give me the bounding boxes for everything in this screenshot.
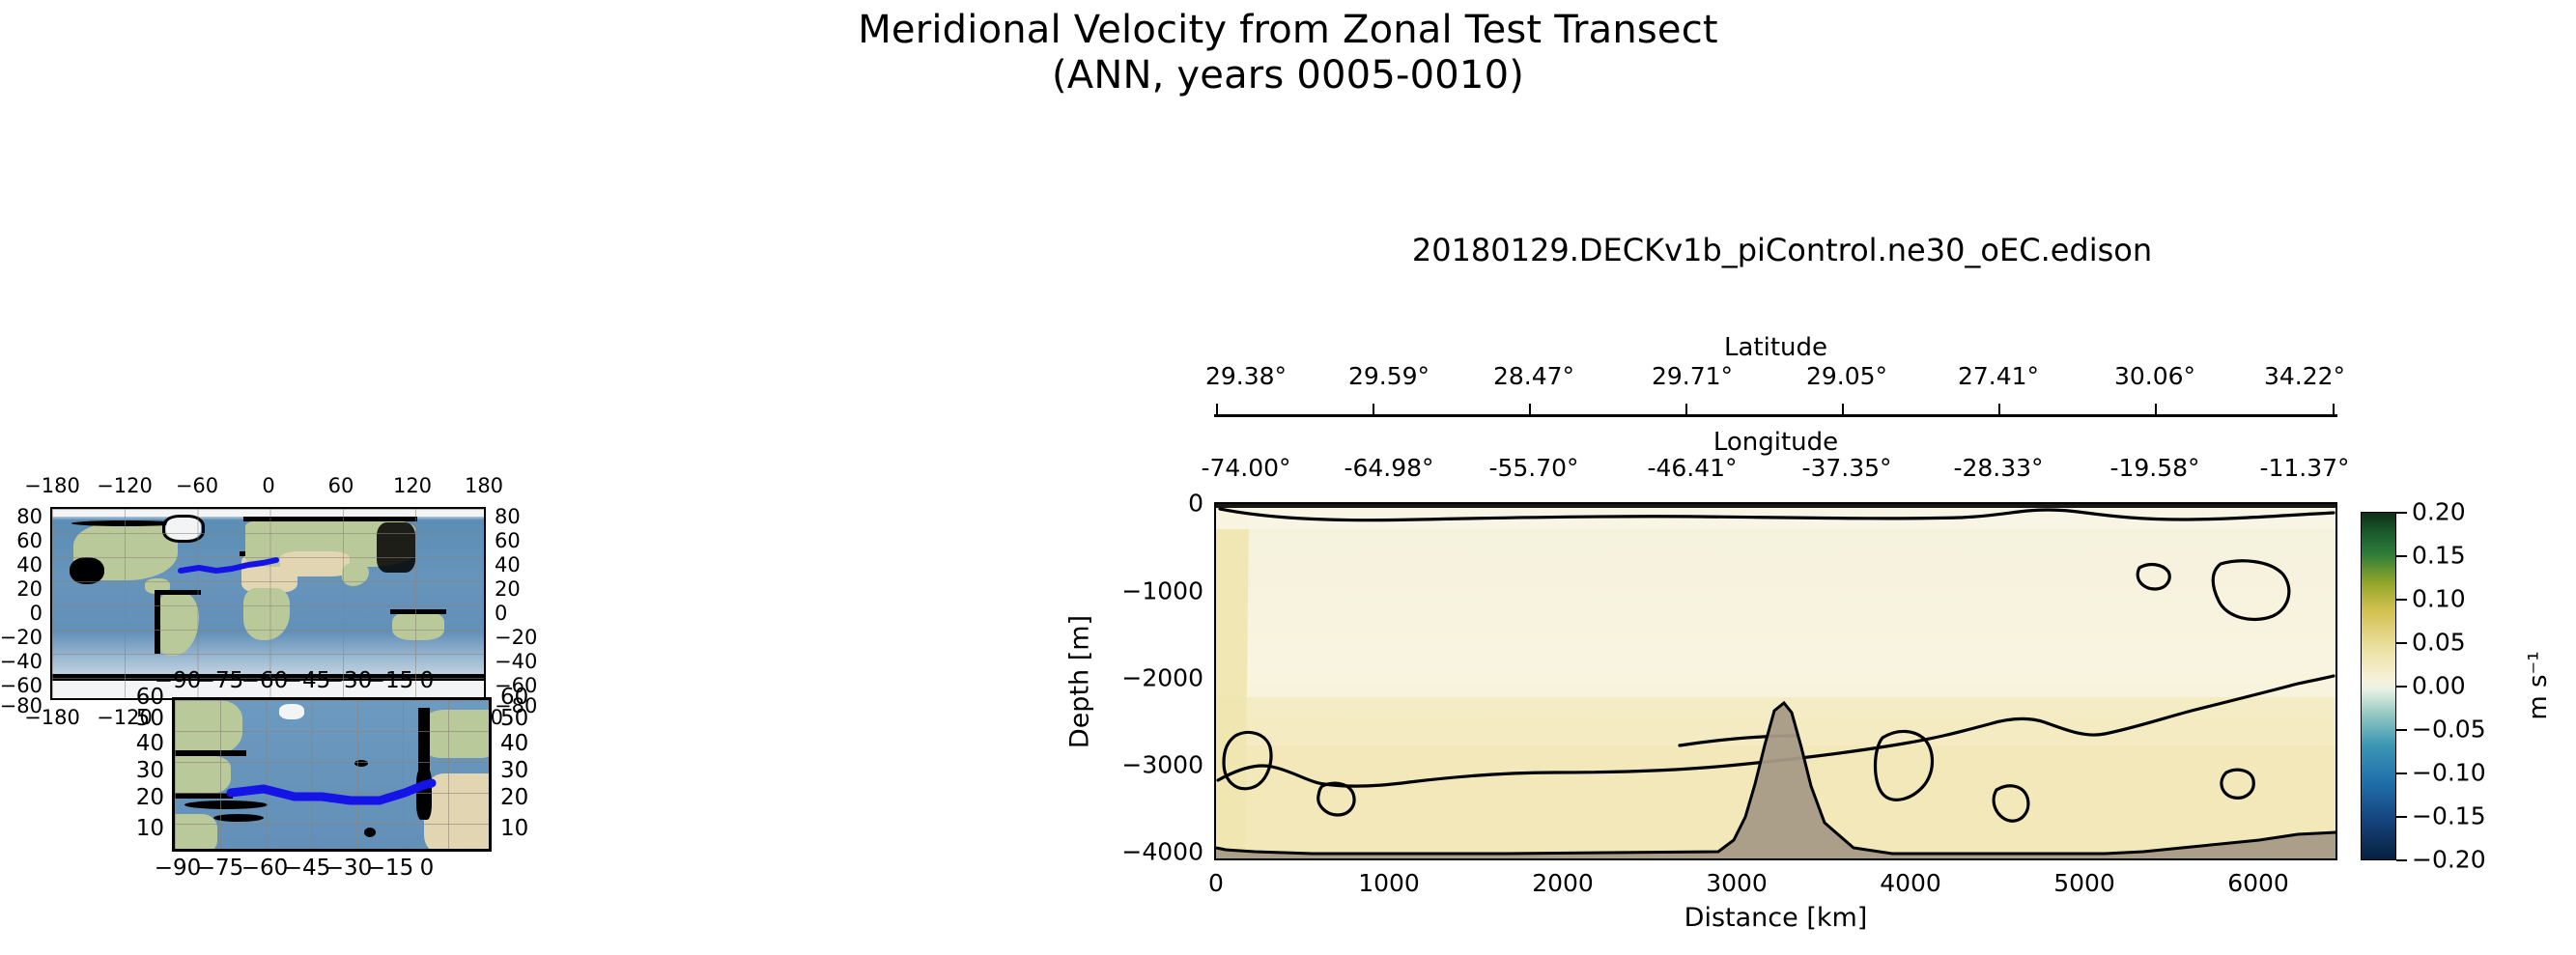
map-ytick-r-2: 40 [495,553,521,576]
lat-tick-4: 29.05° [1806,362,1887,390]
zoom-ytick-r-3: 30 [500,758,528,783]
lat-tick-1: 29.59° [1348,362,1430,390]
lon-tick-2: -55.70° [1488,454,1578,482]
zoom-ytick-r-4: 20 [500,785,528,810]
lon-tick-4: -37.35° [1801,454,1891,482]
map-ytick-r-5: −20 [495,626,537,649]
zoom-xtick-5: −15 [367,668,414,693]
cb-label-5: −0.05 [2412,716,2486,744]
cb-label-3: 0.05 [2412,629,2466,657]
zoom-xtick-2: −60 [241,668,289,693]
cb-label-2: 0.10 [2412,585,2466,613]
lon-tick-6: -19.58° [2109,454,2199,482]
lat-tick-3: 29.71° [1652,362,1733,390]
figure-suptitle: Meridional Velocity from Zonal Test Tran… [0,8,2576,98]
zoom-ytick-l-3: 30 [126,758,164,783]
cb-label-4: 0.00 [2412,672,2466,700]
zoom-xtick-b-4: −30 [326,856,373,881]
lon-tick-0: -74.00° [1201,454,1290,482]
zoom-ytick-l-4: 20 [126,785,164,810]
map-ytick-l-3: 20 [0,577,42,601]
lat-tick-0: 29.38° [1205,362,1287,390]
dist-tick-0: 0 [1208,869,1224,897]
suptitle-line-1: Meridional Velocity from Zonal Test Tran… [858,8,1718,52]
secondary-axis-line [1214,414,2337,417]
map-ytick-l-5: −20 [0,626,42,649]
map-ytick-r-1: 60 [495,529,521,552]
map-ytick-l-8: −80 [0,694,42,717]
secondary-axis-latitude-label: Latitude [1214,333,2337,362]
map-ytick-r-6: −40 [495,650,537,673]
map-ytick-l-1: 60 [0,529,42,552]
lat-tick-2: 28.47° [1493,362,1574,390]
zoom-ytick-l-1: 50 [126,706,164,731]
zoom-xtick-4: −30 [326,668,373,693]
depth-tick-3: −3000 [1111,751,1203,779]
map-xtick-top-0: −180 [24,474,80,497]
figure-canvas: Meridional Velocity from Zonal Test Tran… [0,0,2576,955]
lat-tick-5: 27.41° [1958,362,2039,390]
map-xtick-top-1: −120 [97,474,153,497]
panel-title: 20180129.DECKv1b_piControl.ne30_oEC.edis… [1198,232,2366,268]
zoom-xtick-6: 0 [420,668,435,693]
lon-tick-3: -46.41° [1647,454,1737,482]
map-xtick-top-3: 0 [262,474,274,497]
depth-tick-1: −1000 [1111,577,1203,605]
zoom-ytick-r-1: 50 [500,706,528,731]
dist-tick-6: 6000 [2227,869,2289,897]
colorbar[interactable] [2361,512,2396,860]
transect-x-axis-label: Distance [km] [1214,903,2337,933]
map-xtick-top-6: 180 [465,474,503,497]
dist-tick-5: 5000 [2053,869,2115,897]
depth-tick-2: −2000 [1111,664,1203,692]
transect-section-axes[interactable] [1214,502,2337,860]
map-xtick-top-2: −60 [176,474,218,497]
secondary-axis-longitude-label: Longitude [1214,428,2337,457]
zoom-ytick-r-2: 40 [500,731,528,756]
map-ytick-l-0: 80 [0,505,42,528]
zoom-xtick-b-5: −15 [367,856,414,881]
lon-tick-1: -64.98° [1344,454,1433,482]
map-ytick-r-3: 20 [495,577,521,601]
zoom-xtick-b-2: −60 [241,856,289,881]
map-ytick-l-6: −40 [0,650,42,673]
zoom-map-image [172,697,492,852]
zoom-xtick-b-6: 0 [420,856,435,881]
map-xtick-top-5: 120 [393,474,432,497]
map-xtick-top-4: 60 [328,474,354,497]
zoom-xtick-1: −75 [197,668,244,693]
zoom-ytick-l-5: 10 [126,816,164,841]
lon-tick-7: -11.37° [2259,454,2349,482]
cb-label-6: −0.10 [2412,759,2486,787]
zoom-ytick-r-5: 10 [500,816,528,841]
map-ytick-r-4: 0 [495,602,507,625]
zoom-xtick-b-1: −75 [197,856,244,881]
depth-tick-4: −4000 [1111,838,1203,866]
lon-tick-5: -28.33° [1953,454,2043,482]
dist-tick-2: 2000 [1532,869,1594,897]
lat-tick-6: 30.06° [2114,362,2195,390]
depth-tick-0: 0 [1111,490,1203,518]
cb-label-1: 0.15 [2412,542,2466,570]
zoom-xtick-b-3: −45 [284,856,331,881]
transect-y-axis-label: Depth [m] [1065,615,1095,748]
cb-label-7: −0.15 [2412,802,2486,830]
transect-line-zoom [175,700,492,852]
suptitle-line-2: (ANN, years 0005-0010) [0,53,2576,98]
zoom-map-axes[interactable]: −90 −75 −60 −45 −30 −15 0 −90 −75 −60 −4… [172,697,492,852]
map-ytick-r-0: 80 [495,505,521,528]
dist-tick-3: 3000 [1706,869,1768,897]
colorbar-unit-label: m s⁻¹ [2524,651,2553,719]
zoom-xtick-3: −45 [284,668,331,693]
lat-tick-7: 34.22° [2264,362,2345,390]
map-ytick-l-2: 40 [0,553,42,576]
cb-label-0: 0.20 [2412,498,2466,526]
dist-tick-1: 1000 [1358,869,1420,897]
map-ytick-l-4: 0 [0,602,42,625]
transect-field [1216,504,2335,858]
cb-label-8: −0.20 [2412,846,2486,874]
zoom-xtick-b-0: −90 [155,856,202,881]
dist-tick-4: 4000 [1880,869,1941,897]
zoom-ytick-l-2: 40 [126,731,164,756]
